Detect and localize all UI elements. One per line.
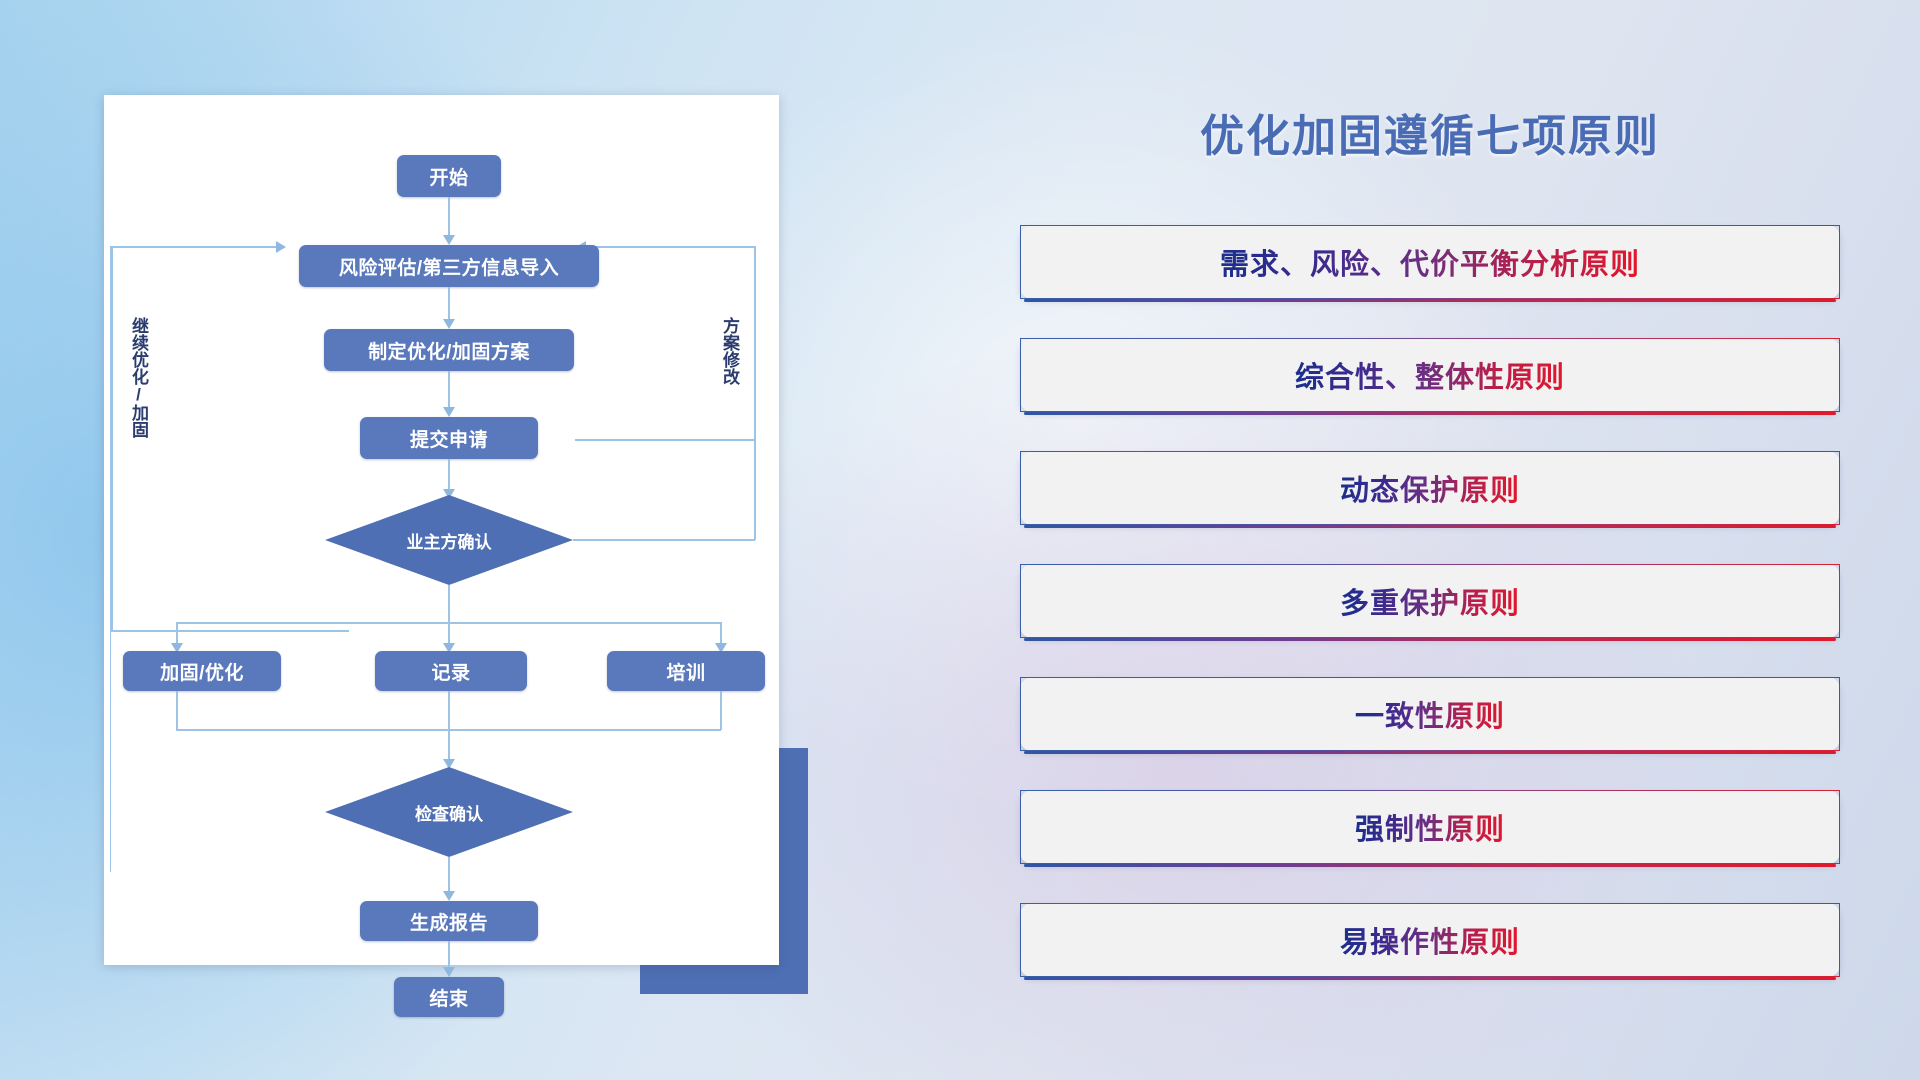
principle-item[interactable]: 一致性原则 [1020,677,1840,751]
principle-item[interactable]: 动态保护原则 [1020,451,1840,525]
edge-label-right-loop: 方案修改 [719,317,739,385]
node-generate-report[interactable]: 生成报告 [360,901,538,941]
node-end[interactable]: 结束 [394,977,504,1017]
node-reinforce-optimize[interactable]: 加固/优化 [123,651,281,691]
principle-list: 需求、风险、代价平衡分析原则 综合性、整体性原则 动态保护原则 多重保护原则 一… [1020,225,1840,1016]
connector-merge-left [176,691,178,730]
edge-label-left-loop: 继续优化/加固 [128,317,148,438]
node-submit-application-label: 提交申请 [410,425,488,452]
principle-item[interactable]: 综合性、整体性原则 [1020,338,1840,412]
flowchart-card: 开始 风险评估/第三方信息导入 制定优化/加固方案 提交申请 业主方确认 [104,95,779,965]
arrowhead-start-to-risk [443,235,455,245]
node-make-plan-label: 制定优化/加固方案 [368,337,530,364]
principles-panel: 优化加固遵循七项原则 需求、风险、代价平衡分析原则 综合性、整体性原则 动态保护… [1020,80,1840,1010]
connector-merge-right [720,691,722,730]
principle-item[interactable]: 多重保护原则 [1020,564,1840,638]
arrowhead-check-to-report [443,891,455,901]
connector-right-loop-up [754,439,756,540]
principle-item[interactable]: 需求、风险、代价平衡分析原则 [1020,225,1840,299]
principle-label: 一致性原则 [1355,693,1505,735]
connector-right-loop-top [584,246,756,248]
node-start-label: 开始 [429,163,468,190]
node-check-confirm-shape[interactable]: 检查确认 [325,767,573,857]
arrowhead-report-to-end [443,967,455,977]
connector-left-loop-to-check [111,630,349,632]
principle-label: 强制性原则 [1355,806,1505,848]
node-risk-assessment[interactable]: 风险评估/第三方信息导入 [299,245,599,287]
node-generate-report-label: 生成报告 [410,908,488,935]
node-make-plan[interactable]: 制定优化/加固方案 [324,329,574,371]
node-submit-application[interactable]: 提交申请 [360,417,538,459]
principle-label: 综合性、整体性原则 [1295,354,1565,396]
principle-label: 需求、风险、代价平衡分析原则 [1220,241,1640,283]
connector-owner-down [448,585,450,623]
arrowhead-left-loop-into-plan [276,241,286,253]
connector-owner-to-right-loop [573,539,755,541]
principle-label: 多重保护原则 [1340,580,1520,622]
principle-item[interactable]: 易操作性原则 [1020,903,1840,977]
node-record[interactable]: 记录 [375,651,527,691]
node-risk-assessment-label: 风险评估/第三方信息导入 [339,253,559,280]
node-training-label: 培训 [666,658,705,685]
principle-label: 动态保护原则 [1340,467,1520,509]
node-start[interactable]: 开始 [397,155,501,197]
connector-left-loop-vertical [111,246,113,631]
node-record-label: 记录 [431,658,470,685]
arrowhead-risk-to-plan [443,319,455,329]
node-reinforce-optimize-label: 加固/优化 [160,658,244,685]
principle-item[interactable]: 强制性原则 [1020,790,1840,864]
connector-left-loop-top [110,246,278,248]
slide-canvas: 开始 风险评估/第三方信息导入 制定优化/加固方案 提交申请 业主方确认 [0,0,1920,1080]
connector-right-loop-vertical [754,246,756,440]
arrowhead-plan-to-submit [443,407,455,417]
accent-bar-horizontal [640,964,808,994]
page-title: 优化加固遵循七项原则 [1020,100,1840,164]
node-owner-confirm[interactable]: 业主方确认 [325,495,573,585]
connector-right-loop-bottom [575,439,756,441]
connector-merge-mid [448,691,450,730]
node-training[interactable]: 培训 [607,651,765,691]
principle-label: 易操作性原则 [1340,919,1520,961]
node-end-label: 结束 [429,984,468,1011]
